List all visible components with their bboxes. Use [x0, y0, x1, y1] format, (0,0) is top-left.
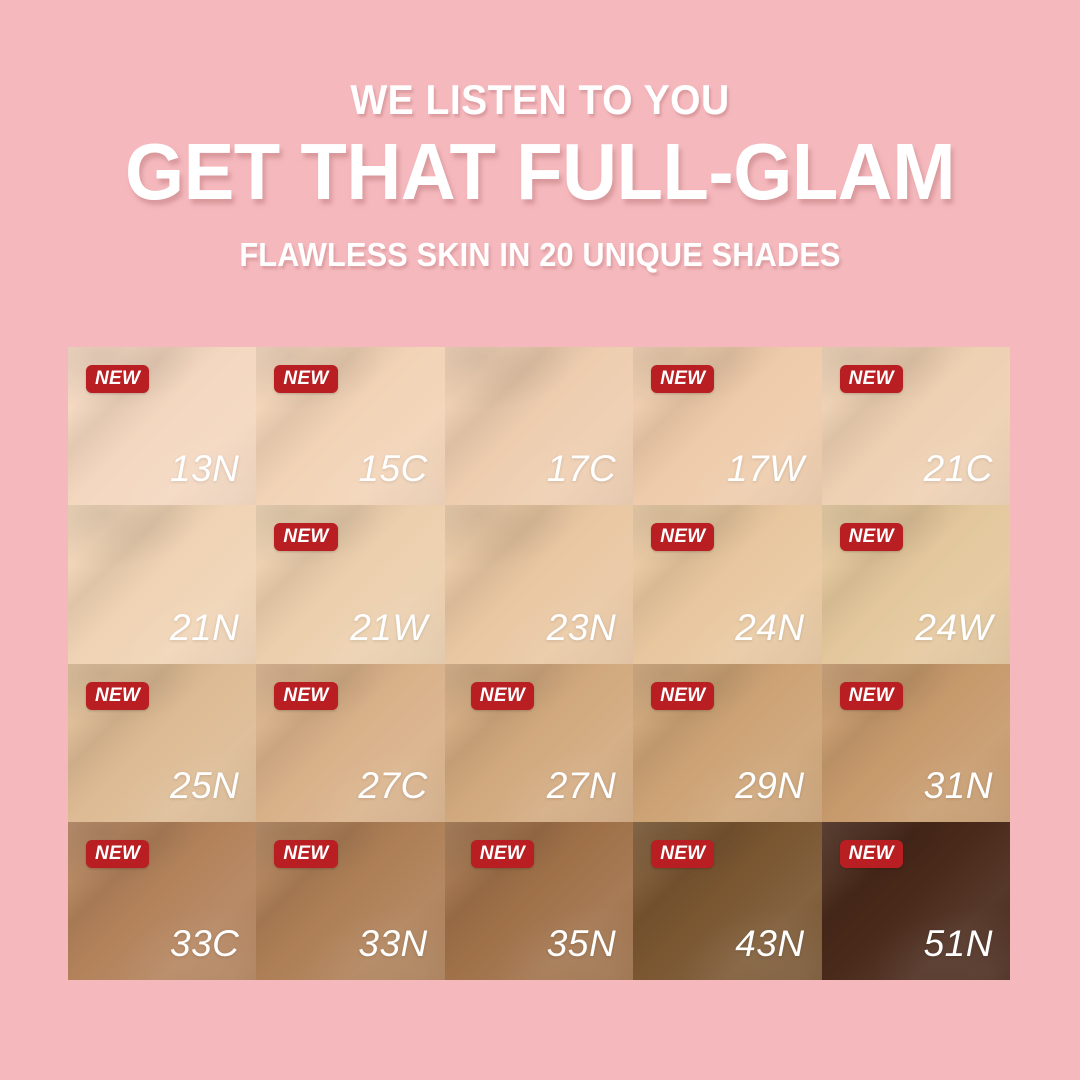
new-badge: NEW: [471, 840, 534, 868]
shade-swatch-27c[interactable]: NEW27C: [256, 664, 444, 822]
shade-code-label: 35N: [547, 925, 616, 962]
shade-code-label: 17C: [547, 450, 616, 487]
new-badge: NEW: [274, 682, 337, 710]
shade-swatch-31n[interactable]: NEW31N: [822, 664, 1010, 822]
shade-swatch-24w[interactable]: NEW24W: [822, 505, 1010, 663]
shade-code-label: 24W: [915, 609, 993, 646]
shade-range-poster: WE LISTEN TO YOU GET THAT FULL-GLAM FLAW…: [0, 0, 1080, 1080]
shade-code-label: 13N: [170, 450, 239, 487]
new-badge: NEW: [651, 840, 714, 868]
shade-swatch-29n[interactable]: NEW29N: [633, 664, 821, 822]
shade-swatch-25n[interactable]: NEW25N: [68, 664, 256, 822]
new-badge: NEW: [840, 682, 903, 710]
new-badge: NEW: [840, 840, 903, 868]
new-badge: NEW: [651, 523, 714, 551]
shade-code-label: 29N: [735, 767, 804, 804]
shade-swatch-13n[interactable]: NEW13N: [68, 347, 256, 505]
shade-swatch-43n[interactable]: NEW43N: [633, 822, 821, 980]
eyebrow-text: WE LISTEN TO YOU: [38, 78, 1042, 122]
shade-code-label: 17W: [727, 450, 805, 487]
shade-swatch-33c[interactable]: NEW33C: [68, 822, 256, 980]
new-badge: NEW: [274, 365, 337, 393]
shade-code-label: 27C: [358, 767, 427, 804]
shade-swatch-24n[interactable]: NEW24N: [633, 505, 821, 663]
shade-code-label: 21W: [350, 609, 428, 646]
new-badge: NEW: [651, 365, 714, 393]
shade-code-label: 33C: [170, 925, 239, 962]
shade-code-label: 33N: [358, 925, 427, 962]
shade-swatch-21w[interactable]: NEW21W: [256, 505, 444, 663]
shade-swatch-17w[interactable]: NEW17W: [633, 347, 821, 505]
shade-code-label: 15C: [358, 450, 427, 487]
shade-swatch-21n[interactable]: 21N: [68, 505, 256, 663]
new-badge: NEW: [840, 365, 903, 393]
page-title: GET THAT FULL-GLAM: [27, 130, 1053, 215]
new-badge: NEW: [86, 840, 149, 868]
new-badge: NEW: [651, 682, 714, 710]
shade-code-label: 31N: [924, 767, 993, 804]
shade-swatch-15c[interactable]: NEW15C: [256, 347, 444, 505]
shade-swatch-35n[interactable]: NEW35N: [445, 822, 633, 980]
shade-swatch-17c[interactable]: 17C: [445, 347, 633, 505]
new-badge: NEW: [274, 523, 337, 551]
shade-code-label: 21C: [924, 450, 993, 487]
shade-code-label: 21N: [170, 609, 239, 646]
shade-code-label: 24N: [735, 609, 804, 646]
new-badge: NEW: [274, 840, 337, 868]
shade-code-label: 23N: [547, 609, 616, 646]
new-badge: NEW: [86, 682, 149, 710]
shade-swatch-33n[interactable]: NEW33N: [256, 822, 444, 980]
shade-swatch-27n[interactable]: NEW27N: [445, 664, 633, 822]
new-badge: NEW: [471, 682, 534, 710]
shade-code-label: 27N: [547, 767, 616, 804]
shade-swatch-21c[interactable]: NEW21C: [822, 347, 1010, 505]
shade-code-label: 51N: [924, 925, 993, 962]
subtitle-text: FLAWLESS SKIN IN 20 UNIQUE SHADES: [38, 237, 1042, 273]
shade-swatch-23n[interactable]: 23N: [445, 505, 633, 663]
shade-code-label: 43N: [735, 925, 804, 962]
shade-swatch-grid: NEW13NNEW15C17CNEW17WNEW21C21NNEW21W23NN…: [68, 347, 1010, 980]
shade-code-label: 25N: [170, 767, 239, 804]
poster-header: WE LISTEN TO YOU GET THAT FULL-GLAM FLAW…: [0, 78, 1080, 273]
shade-swatch-51n[interactable]: NEW51N: [822, 822, 1010, 980]
new-badge: NEW: [86, 365, 149, 393]
new-badge: NEW: [840, 523, 903, 551]
